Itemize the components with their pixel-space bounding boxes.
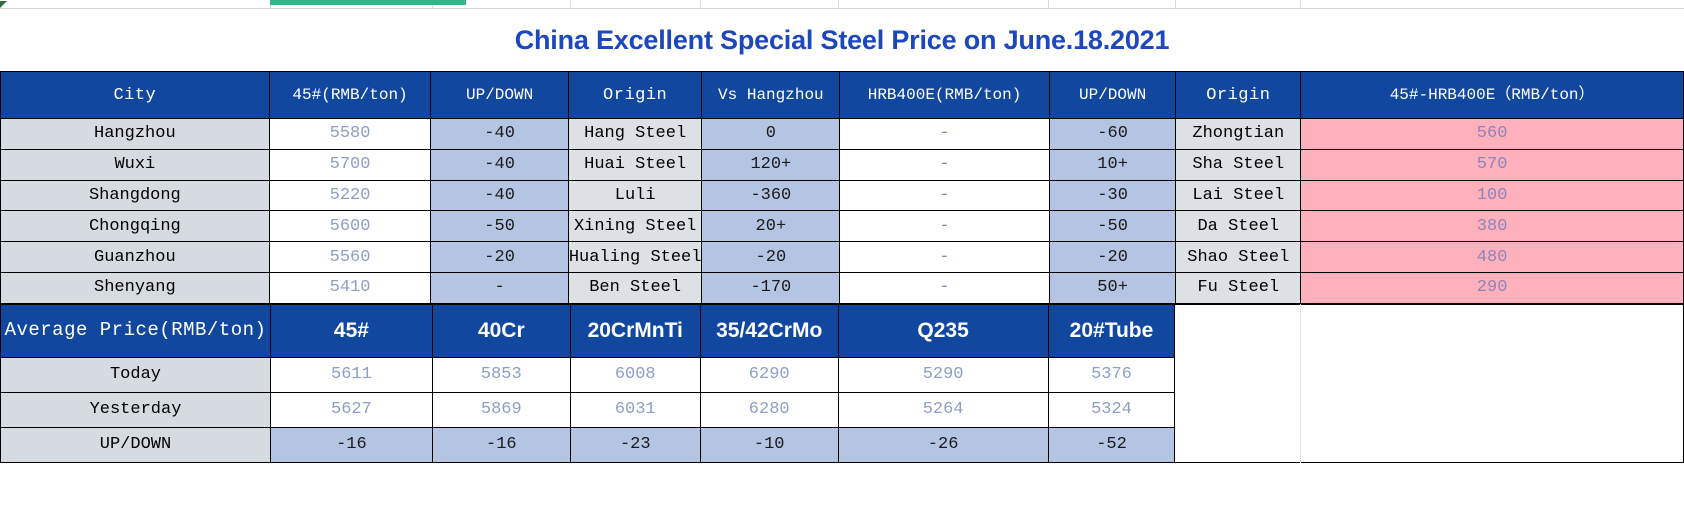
avg-cell-3542crmo: -10 (700, 427, 838, 462)
cell-price45: 5600 (269, 211, 431, 242)
avg-header-45: 45# (270, 304, 432, 357)
cell-hrb400e: - (840, 180, 1050, 211)
avg-header-20tube: 20#Tube (1048, 304, 1175, 357)
cell-origin-2: Zhongtian (1176, 119, 1301, 150)
cell-updown-2: -60 (1049, 119, 1176, 150)
col-header-city: City (1, 72, 270, 119)
cell-hrb400e: - (840, 211, 1050, 242)
cell-spread: 100 (1301, 180, 1684, 211)
column-divider (1300, 304, 1301, 463)
cell-origin-1: Hang Steel (568, 119, 702, 150)
cell-origin-2: Lai Steel (1176, 180, 1301, 211)
average-header-row: Average Price(RMB/ton) 45# 40Cr 20CrMnTi… (1, 304, 1684, 357)
cell-updown-1: -20 (431, 242, 568, 273)
avg-cell-40cr: 5853 (432, 357, 570, 392)
avg-cell-20tube: -52 (1048, 427, 1175, 462)
cell-vs-hangzhou: 120+ (702, 149, 840, 180)
cell-spread: 480 (1301, 242, 1684, 273)
cell-updown-2: -30 (1049, 180, 1176, 211)
cell-hrb400e: - (840, 119, 1050, 150)
col-header-origin-2: Origin (1176, 72, 1301, 119)
col-header-vs-hangzhou: Vs Hangzhou (702, 72, 840, 119)
selected-cell-range-highlight[interactable] (270, 0, 466, 5)
cell-updown-1: -40 (431, 180, 568, 211)
avg-row-label: UP/DOWN (1, 427, 271, 462)
cell-updown-1: -40 (431, 119, 568, 150)
page-title: China Excellent Special Steel Price on J… (515, 25, 1170, 56)
avg-cell-20crmnti: -23 (570, 427, 700, 462)
cell-spread: 380 (1301, 211, 1684, 242)
avg-cell-3542crmo: 6280 (700, 392, 838, 427)
avg-cell-q235: 5290 (838, 357, 1048, 392)
avg-row-label: Yesterday (1, 392, 271, 427)
cell-hrb400e: - (840, 242, 1050, 273)
col-header-spread: 45#-HRB400E（RMB/ton） (1301, 72, 1684, 119)
cell-hrb400e: - (840, 272, 1050, 303)
avg-cell-3542crmo: 6290 (700, 357, 838, 392)
column-divider (700, 0, 701, 8)
cell-spread: 560 (1301, 119, 1684, 150)
avg-header-3542crmo: 35/42CrMo (700, 304, 838, 357)
table-row: Shenyang 5410 - Ben Steel -170 - 50+ Fu … (1, 272, 1684, 303)
cell-updown-2: -50 (1049, 211, 1176, 242)
avg-cell-40cr: -16 (432, 427, 570, 462)
avg-cell-q235: 5264 (838, 392, 1048, 427)
cell-updown-1: - (431, 272, 568, 303)
avg-header-q235: Q235 (838, 304, 1048, 357)
avg-cell-45: -16 (270, 427, 432, 462)
cell-city: Chongqing (1, 211, 270, 242)
cell-price45: 5580 (269, 119, 431, 150)
title-band: China Excellent Special Steel Price on J… (0, 9, 1684, 71)
cell-vs-hangzhou: 20+ (702, 211, 840, 242)
cell-price45: 5560 (269, 242, 431, 273)
cell-origin-1: Hualing Steel (568, 242, 702, 273)
cell-updown-1: -50 (431, 211, 568, 242)
avg-cell-45: 5611 (270, 357, 432, 392)
column-divider (570, 0, 571, 8)
col-header-updown-2: UP/DOWN (1049, 72, 1176, 119)
cell-origin-2: Sha Steel (1176, 149, 1301, 180)
cell-city: Wuxi (1, 149, 270, 180)
avg-cell-20tube: 5324 (1048, 392, 1175, 427)
cell-origin-1: Ben Steel (568, 272, 702, 303)
column-divider (1175, 0, 1176, 8)
avg-header-40cr: 40Cr (432, 304, 570, 357)
cell-city: Shangdong (1, 180, 270, 211)
column-divider (1300, 0, 1301, 8)
avg-cell-20tube: 5376 (1048, 357, 1175, 392)
cell-city: Hangzhou (1, 119, 270, 150)
cell-spread: 290 (1301, 272, 1684, 303)
spreadsheet-column-strip (0, 0, 1684, 9)
table-row: Shangdong 5220 -40 Luli -360 - -30 Lai S… (1, 180, 1684, 211)
empty-region (1175, 304, 1684, 462)
avg-cell-q235: -26 (838, 427, 1048, 462)
table-row: Wuxi 5700 -40 Huai Steel 120+ - 10+ Sha … (1, 149, 1684, 180)
col-header-price45: 45#(RMB/ton) (269, 72, 431, 119)
column-divider (1048, 0, 1049, 8)
col-header-hrb400e: HRB400E(RMB/ton) (840, 72, 1050, 119)
cell-updown-2: 50+ (1049, 272, 1176, 303)
cell-vs-hangzhou: 0 (702, 119, 840, 150)
average-price-section: Average Price(RMB/ton) 45# 40Cr 20CrMnTi… (0, 304, 1684, 463)
cell-city: Guanzhou (1, 242, 270, 273)
cell-vs-hangzhou: -360 (702, 180, 840, 211)
avg-cell-20crmnti: 6008 (570, 357, 700, 392)
avg-header-20crmnti: 20CrMnTi (570, 304, 700, 357)
cell-origin-1: Huai Steel (568, 149, 702, 180)
table-header-row: City 45#(RMB/ton) UP/DOWN Origin Vs Hang… (1, 72, 1684, 119)
avg-cell-45: 5627 (270, 392, 432, 427)
cell-hrb400e: - (840, 149, 1050, 180)
cell-origin-1: Xining Steel (568, 211, 702, 242)
avg-cell-40cr: 5869 (432, 392, 570, 427)
cell-spread: 570 (1301, 149, 1684, 180)
cell-origin-2: Da Steel (1176, 211, 1301, 242)
cell-price45: 5220 (269, 180, 431, 211)
cell-updown-1: -40 (431, 149, 568, 180)
column-divider (838, 0, 839, 8)
cell-vs-hangzhou: -20 (702, 242, 840, 273)
cell-price45: 5410 (269, 272, 431, 303)
table-row: Hangzhou 5580 -40 Hang Steel 0 - -60 Zho… (1, 119, 1684, 150)
cell-updown-2: -20 (1049, 242, 1176, 273)
cell-marker-icon (0, 1, 7, 8)
average-price-table: Average Price(RMB/ton) 45# 40Cr 20CrMnTi… (0, 304, 1684, 463)
cell-updown-2: 10+ (1049, 149, 1176, 180)
cell-origin-2: Fu Steel (1176, 272, 1301, 303)
cell-vs-hangzhou: -170 (702, 272, 840, 303)
cell-price45: 5700 (269, 149, 431, 180)
table-row: Guanzhou 5560 -20 Hualing Steel -20 - -2… (1, 242, 1684, 273)
avg-row-label: Today (1, 357, 271, 392)
avg-header-label: Average Price(RMB/ton) (1, 304, 271, 357)
col-header-updown-1: UP/DOWN (431, 72, 568, 119)
col-header-origin-1: Origin (568, 72, 702, 119)
avg-cell-20crmnti: 6031 (570, 392, 700, 427)
cell-origin-2: Shao Steel (1176, 242, 1301, 273)
city-price-table: City 45#(RMB/ton) UP/DOWN Origin Vs Hang… (0, 71, 1684, 304)
table-row: Chongqing 5600 -50 Xining Steel 20+ - -5… (1, 211, 1684, 242)
cell-origin-1: Luli (568, 180, 702, 211)
cell-city: Shenyang (1, 272, 270, 303)
